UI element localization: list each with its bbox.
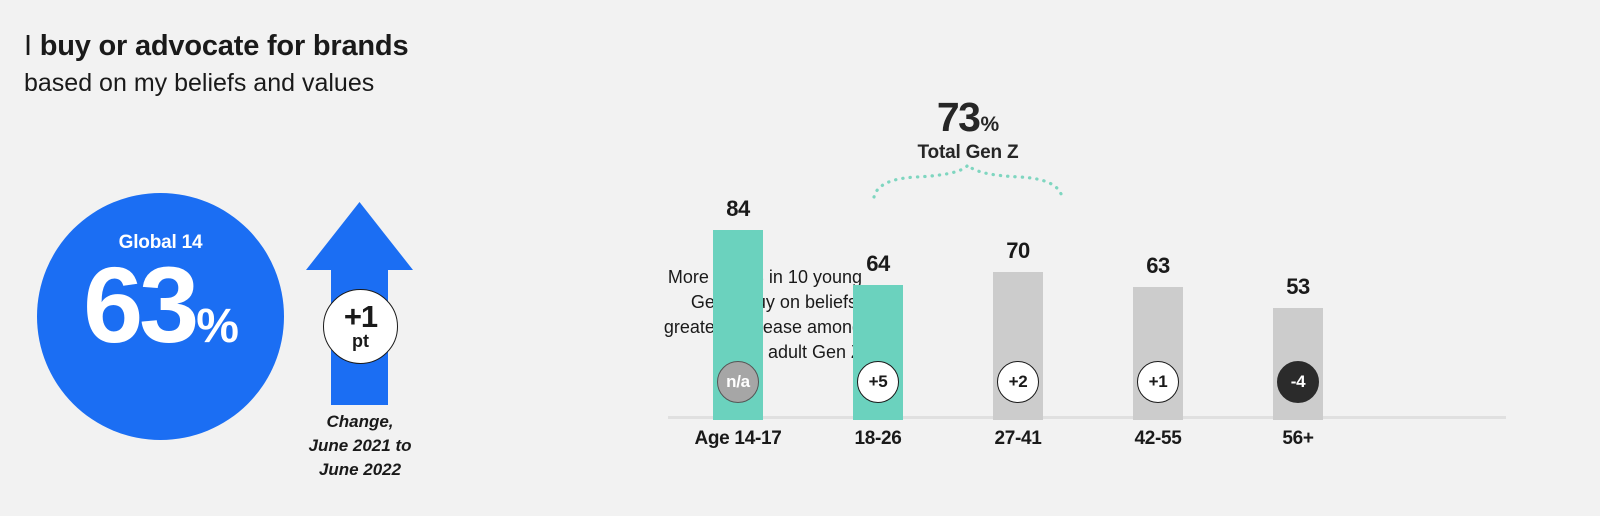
page-title: I buy or advocate for brands based on my… (24, 28, 584, 99)
change-badge: +1 pt (323, 289, 398, 364)
change-arrow-group: +1 pt (300, 200, 420, 405)
change-badge: n/a (717, 361, 759, 403)
change-caption-line-3: June 2022 (289, 458, 431, 482)
title-strong-text: buy or advocate for brands (40, 30, 409, 62)
change-badge: -4 (1277, 361, 1319, 403)
change-badge: +5 (857, 361, 899, 403)
global-stat-circle: Global 14 63 % (37, 193, 284, 440)
change-caption: Change, June 2021 to June 2022 (289, 410, 431, 482)
infographic-root: I buy or advocate for brands based on my… (0, 0, 1600, 516)
global-stat-unit: % (196, 299, 238, 354)
bar-value-label: 70 (948, 238, 1088, 264)
change-caption-line-2: June 2021 to (289, 434, 431, 458)
plot-area: 84n/a64+570+263+153-4 (668, 120, 1573, 420)
bar-value-label: 84 (668, 196, 808, 222)
title-lead-text: I (24, 30, 32, 62)
bar-group: 84n/a (668, 120, 808, 420)
bar-group: 64+5 (808, 120, 948, 420)
change-caption-line-1: Change, (289, 410, 431, 434)
category-label: Age 14-17 (668, 428, 808, 450)
category-label: 27-41 (948, 428, 1088, 450)
global-stat-value: 63 (83, 248, 195, 361)
category-label: 56+ (1228, 428, 1368, 450)
bar-value-label: 53 (1228, 274, 1368, 300)
bar-group: 63+1 (1088, 120, 1228, 420)
bar-value-label: 63 (1088, 253, 1228, 279)
category-label: 42-55 (1088, 428, 1228, 450)
global-stat-value-row: 63 % (83, 248, 238, 361)
bar-chart: 73 % Total Gen Z More than 8 in 10 young… (600, 0, 1600, 516)
change-badge: +2 (997, 361, 1039, 403)
category-label: 18-26 (808, 428, 948, 450)
title-subtitle: based on my beliefs and values (24, 67, 584, 99)
bar-group: 70+2 (948, 120, 1088, 420)
change-badge: +1 (1137, 361, 1179, 403)
title-line-1: I buy or advocate for brands (24, 28, 584, 64)
bar-value-label: 64 (808, 251, 948, 277)
change-badge-unit: pt (352, 332, 369, 350)
change-badge-value: +1 (344, 303, 377, 331)
bar-group: 53-4 (1228, 120, 1368, 420)
